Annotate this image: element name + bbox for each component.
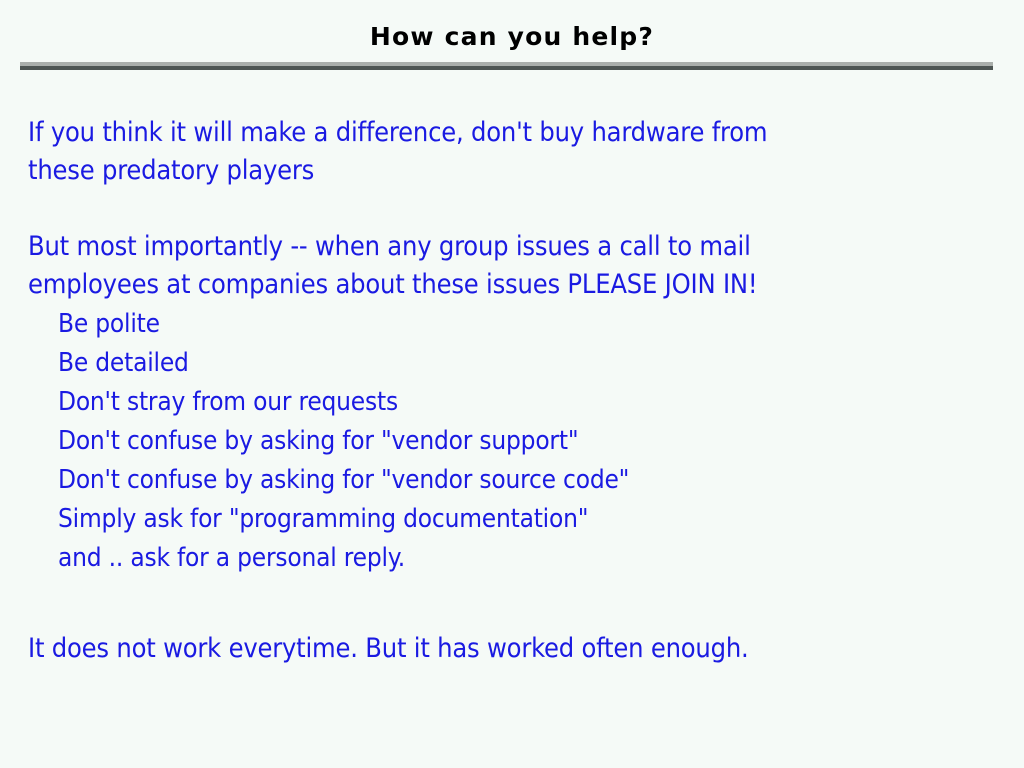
paragraph-callout-line-2: employees at companies about these issue… xyxy=(28,266,757,304)
list-item: Simply ask for "programming documentatio… xyxy=(58,500,629,539)
list-item: and .. ask for a personal reply. xyxy=(58,539,629,578)
list-item: Be polite xyxy=(58,305,629,344)
list-item: Don't confuse by asking for "vendor supp… xyxy=(58,422,629,461)
paragraph-closing: It does not work everytime. But it has w… xyxy=(28,630,749,668)
paragraph-intro: If you think it will make a difference, … xyxy=(28,114,767,190)
list-item: Don't confuse by asking for "vendor sour… xyxy=(58,461,629,500)
paragraph-intro-line-1: If you think it will make a difference, … xyxy=(28,114,767,152)
paragraph-closing-line-1: It does not work everytime. But it has w… xyxy=(28,630,749,668)
title-divider xyxy=(20,62,993,70)
slide: How can you help? If you think it will m… xyxy=(0,0,1024,768)
paragraph-intro-line-2: these predatory players xyxy=(28,152,767,190)
list-item: Don't stray from our requests xyxy=(58,383,629,422)
divider-shadow xyxy=(20,66,993,70)
page-title: How can you help? xyxy=(0,22,1024,52)
paragraph-callout: But most importantly -- when any group i… xyxy=(28,228,757,304)
paragraph-callout-line-1: But most importantly -- when any group i… xyxy=(28,228,757,266)
advice-list: Be polite Be detailed Don't stray from o… xyxy=(58,305,629,578)
list-item: Be detailed xyxy=(58,344,629,383)
